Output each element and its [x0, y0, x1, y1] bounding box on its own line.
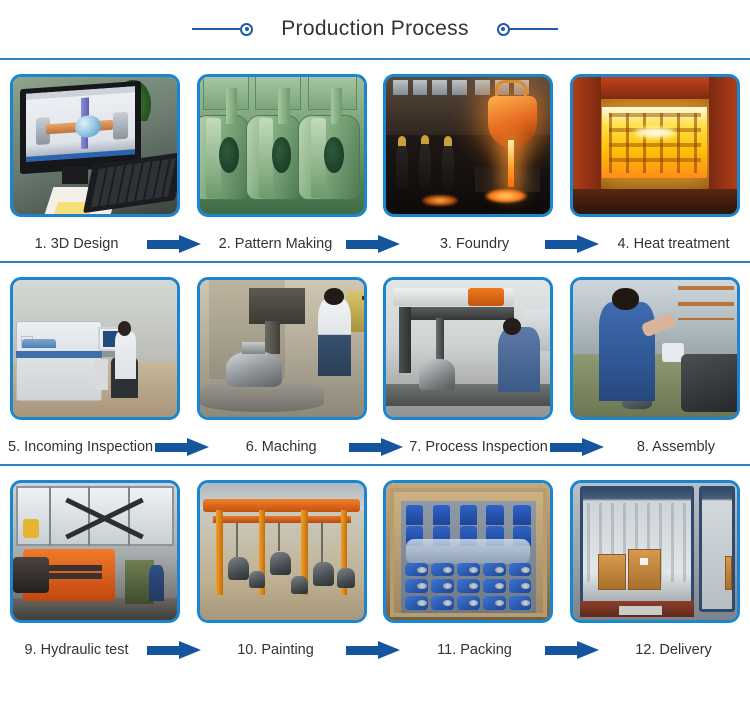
process-row-2: 5. Incoming Inspection 6. Maching 7. Pro… — [0, 263, 750, 464]
page-header: Production Process — [0, 0, 750, 58]
step-label-7: 7. Process Inspection — [409, 439, 548, 455]
arrow-icon-1 — [145, 234, 207, 254]
arrow-icon-4 — [153, 437, 215, 457]
arrow-icon-5 — [347, 437, 409, 457]
green-valve-patterns-photo — [200, 77, 364, 214]
captions-row-1: 1. 3D Design 2. Pattern Making 3. Foundr… — [0, 217, 750, 261]
assembly-worker-photo — [573, 280, 737, 417]
arrow-icon-9 — [543, 640, 605, 660]
arrow-icon-8 — [344, 640, 406, 660]
captions-row-2: 5. Incoming Inspection 6. Maching 7. Pro… — [0, 420, 750, 464]
step-label-8: 8. Assembly — [610, 439, 742, 455]
step-label-5: 5. Incoming Inspection — [8, 439, 153, 455]
captions-row-3: 9. Hydraulic test 10. Painting 11. Packi… — [0, 623, 750, 667]
step-label-12: 12. Delivery — [605, 642, 742, 658]
step-label-6: 6. Maching — [215, 439, 347, 455]
step-card-9[interactable] — [10, 480, 180, 623]
step-card-12[interactable] — [570, 480, 740, 623]
spectrometer-lab-photo — [13, 280, 177, 417]
vertical-lathe-photo — [200, 280, 364, 417]
step-card-4[interactable] — [570, 74, 740, 217]
arrow-icon-3 — [543, 234, 605, 254]
painting-conveyor-photo — [200, 483, 364, 620]
packed-valves-crate-photo — [386, 483, 550, 620]
step-card-10[interactable] — [197, 480, 367, 623]
photo-cards-row-1 — [0, 60, 750, 217]
step-label-10: 10. Painting — [207, 642, 344, 658]
step-card-1[interactable] — [10, 74, 180, 217]
step-label-3: 3. Foundry — [406, 236, 543, 252]
cmm-measuring-photo — [386, 280, 550, 417]
step-card-5[interactable] — [10, 277, 180, 420]
process-row-3: 9. Hydraulic test 10. Painting 11. Packi… — [0, 466, 750, 667]
line-dot-icon — [192, 23, 253, 36]
dot-line-icon — [497, 23, 558, 36]
page-title: Production Process — [281, 17, 469, 41]
step-card-11[interactable] — [383, 480, 553, 623]
photo-cards-row-2 — [0, 263, 750, 420]
step-label-1: 1. 3D Design — [8, 236, 145, 252]
step-label-11: 11. Packing — [406, 642, 543, 658]
arrow-icon-2 — [344, 234, 406, 254]
step-label-4: 4. Heat treatment — [605, 236, 742, 252]
glowing-furnace-photo — [573, 77, 737, 214]
arrow-icon-6 — [548, 437, 610, 457]
arrow-icon-7 — [145, 640, 207, 660]
process-row-1: 1. 3D Design 2. Pattern Making 3. Foundr… — [0, 60, 750, 261]
loaded-container-photo — [573, 483, 737, 620]
hydraulic-test-rig-photo — [13, 483, 177, 620]
step-card-7[interactable] — [383, 277, 553, 420]
step-label-9: 9. Hydraulic test — [8, 642, 145, 658]
production-process-page: Production Process — [0, 0, 750, 724]
step-card-6[interactable] — [197, 277, 367, 420]
step-label-2: 2. Pattern Making — [207, 236, 344, 252]
step-card-8[interactable] — [570, 277, 740, 420]
molten-metal-pour-photo — [386, 77, 550, 214]
step-card-3[interactable] — [383, 74, 553, 217]
photo-cards-row-3 — [0, 466, 750, 623]
step-card-2[interactable] — [197, 74, 367, 217]
cad-design-photo — [13, 77, 177, 214]
